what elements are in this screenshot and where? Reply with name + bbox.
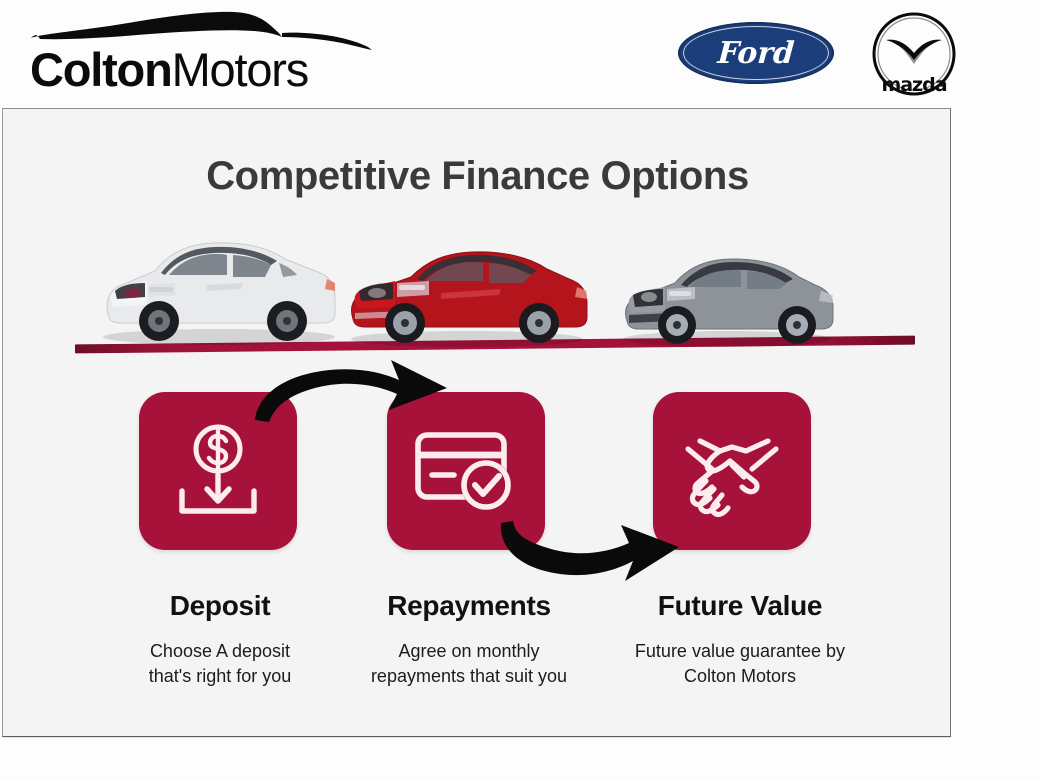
caption-future-value: Future Value Future value guarantee by C… bbox=[609, 589, 871, 689]
step-heading-deposit: Deposit bbox=[89, 589, 351, 623]
handshake-icon bbox=[676, 421, 788, 521]
step-heading-future-value: Future Value bbox=[609, 589, 871, 623]
mazda-logo[interactable]: mazda bbox=[866, 12, 962, 100]
step-description-repayments: Agree on monthly repayments that suit yo… bbox=[338, 639, 600, 689]
colton-motors-logo[interactable]: ColtonMotors bbox=[30, 6, 378, 98]
step-description-line: Agree on monthly bbox=[338, 639, 600, 664]
brand-header: ColtonMotors Ford mazda bbox=[0, 0, 1040, 104]
step-description-future-value: Future value guarantee by Colton Motors bbox=[609, 639, 871, 689]
caption-deposit: Deposit Choose A deposit that's right fo… bbox=[89, 589, 351, 689]
caption-repayments: Repayments Agree on monthly repayments t… bbox=[338, 589, 600, 689]
colton-motors-wordmark: ColtonMotors bbox=[30, 42, 378, 98]
finance-content-panel: Competitive Finance Options bbox=[2, 108, 951, 737]
dollar-deposit-icon bbox=[166, 419, 270, 523]
step-description-line: Future value guarantee by bbox=[609, 639, 871, 664]
finance-options-poster: ColtonMotors Ford mazda Competitive Fina… bbox=[0, 0, 1040, 780]
step-description-line: repayments that suit you bbox=[338, 664, 600, 689]
step-description-line: Colton Motors bbox=[609, 664, 871, 689]
logo-word-motors: Motors bbox=[172, 43, 308, 96]
sedan-car-photo bbox=[341, 235, 593, 349]
step-heading-repayments: Repayments bbox=[338, 589, 600, 623]
logo-word-colton: Colton bbox=[30, 43, 172, 96]
curved-arrow-right-icon bbox=[251, 352, 461, 434]
page-title: Competitive Finance Options bbox=[3, 154, 952, 199]
suv-car-photo bbox=[91, 225, 343, 347]
step-description-deposit: Choose A deposit that's right for you bbox=[89, 639, 351, 689]
hatchback-car-photo bbox=[615, 243, 841, 349]
step-description-line: that's right for you bbox=[89, 664, 351, 689]
ford-wordmark: Ford bbox=[676, 22, 836, 84]
vehicle-lineup bbox=[3, 217, 952, 352]
step-description-line: Choose A deposit bbox=[89, 639, 351, 664]
curved-arrow-right-icon bbox=[495, 507, 685, 589]
mazda-wordmark: mazda bbox=[866, 74, 962, 96]
ford-logo[interactable]: Ford bbox=[678, 22, 834, 84]
